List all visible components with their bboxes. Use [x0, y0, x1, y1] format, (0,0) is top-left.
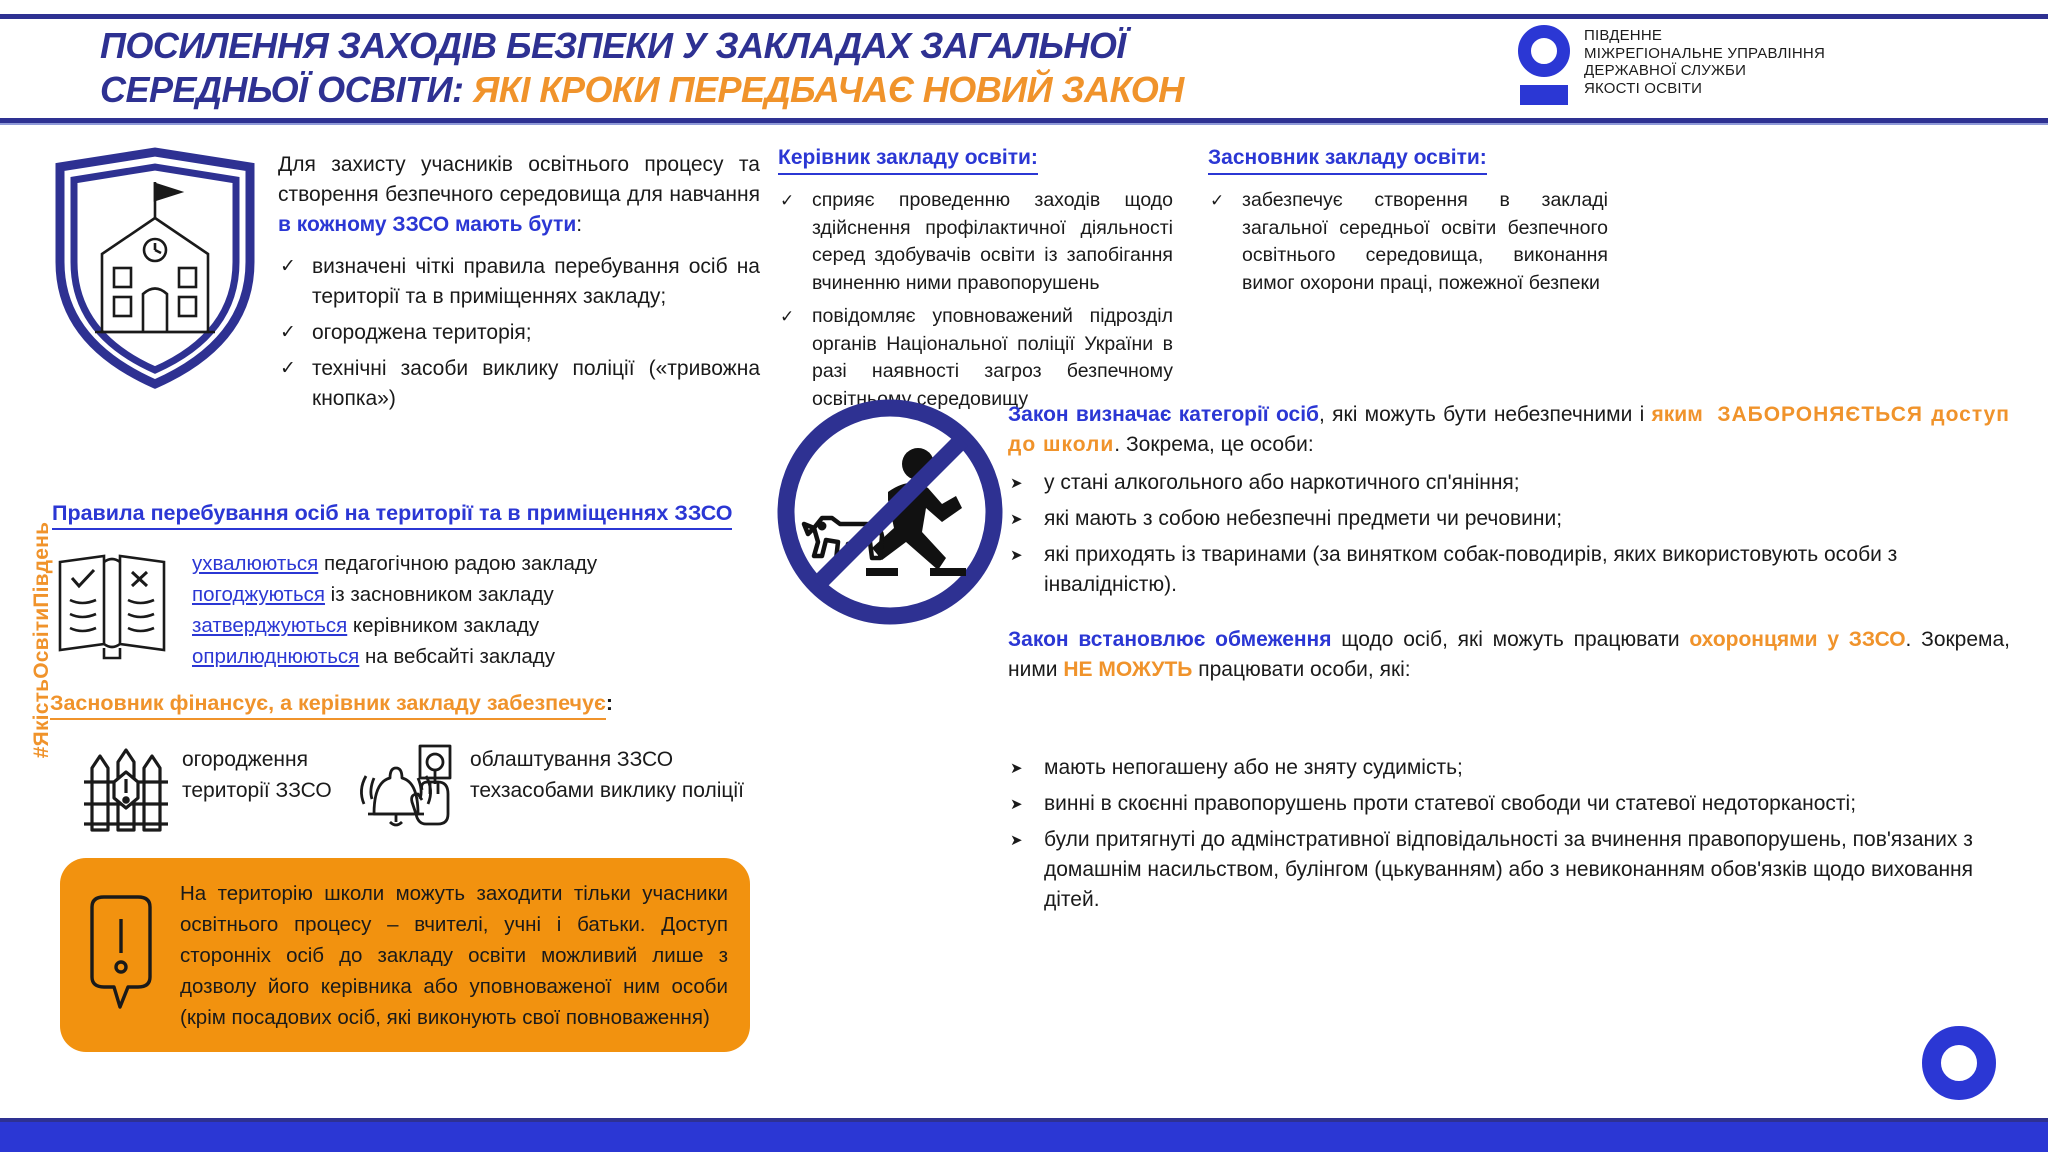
header-divider-light [0, 123, 2048, 125]
finance-icons-row: огородження території ЗЗСО [52, 730, 752, 840]
founder-heading: Засновник закладу освіти: [1208, 145, 1487, 175]
corner-ring-logo-icon [1922, 1026, 1996, 1100]
rules-verb-list: ухвалюються педагогічною радою закладу п… [192, 548, 712, 672]
finance-heading-wrap: Засновник фінансує, а керівник закладу з… [50, 690, 613, 720]
ban-block: Закон визначає категорії осіб, які можут… [1008, 400, 2010, 606]
rules-heading: Правила перебування осіб на території та… [52, 500, 732, 530]
principal-checklist: сприяє проведенню заходів щодо здійсненн… [778, 187, 1173, 413]
logo-line-1: ПІВДЕННЕ [1584, 27, 1825, 45]
title-line-2-blue: СЕРЕДНЬОЇ ОСВІТИ: [100, 69, 473, 110]
orange-callout-box: На територію школи можуть заходити тільк… [60, 858, 750, 1052]
bottom-bar [0, 1122, 2048, 1152]
ban-lead-tail: . Зокрема, це особи: [1114, 433, 1313, 456]
founder-checklist: забезпечує створення в закладі загальної… [1208, 187, 1608, 297]
list-item: у стані алкогольного або наркотичного сп… [1008, 468, 2010, 498]
infographic-page: ПОСИЛЕННЯ ЗАХОДІВ БЕЗПЕКИ У ЗАКЛАДАХ ЗАГ… [0, 0, 2048, 1152]
ban-lead-orange-1: яким [1652, 403, 1703, 426]
ban-lead: Закон визначає категорії осіб, які можут… [1008, 400, 2010, 460]
rules-heading-wrap: Правила перебування осіб на території та… [52, 500, 732, 530]
principal-column: Керівник закладу освіти: сприяє проведен… [778, 145, 1173, 419]
alarm-bell-button-icon [352, 738, 458, 834]
rules-rest: керівником закладу [347, 614, 539, 637]
title-line-2-orange: ЯКІ КРОКИ ПЕРЕДБАЧАЄ НОВИЙ ЗАКОН [473, 69, 1184, 110]
callout-text: На територію школи можуть заходити тільк… [180, 878, 728, 1033]
rules-row: оприлюднюються на вебсайті закладу [192, 641, 712, 672]
rules-row: погоджуються із засновником закладу [192, 579, 712, 610]
rules-rest: педагогічною радою закладу [318, 552, 597, 575]
ban-lead-mid: , які можуть бути небезпечними і [1319, 403, 1652, 426]
finance-heading-colon: : [606, 691, 613, 715]
list-item: які мають з собою небезпечні предмети чи… [1008, 504, 2010, 534]
sidebar: #ЯкістьОсвітиПівдень [0, 128, 42, 1110]
rules-row: ухвалюються педагогічною радою закладу [192, 548, 712, 579]
list-item: огороджена територія; [278, 318, 760, 348]
guards-lead-orange-1: охоронцями у ЗЗСО [1689, 628, 1905, 651]
rules-verb: погоджуються [192, 583, 325, 606]
rules-rest: на вебсайті закладу [359, 645, 555, 668]
rules-verb: оприлюднюються [192, 645, 359, 668]
rules-rest: із засновником закладу [325, 583, 554, 606]
fence-label-line-2: території ЗЗСО [182, 775, 332, 806]
logo-line-3: ДЕРЖАВНОЇ СЛУЖБИ [1584, 62, 1825, 80]
guards-lead-orange-2: НЕ МОЖУТЬ [1063, 658, 1192, 681]
intro-paragraph: Для захисту учасників освітнього процесу… [278, 150, 760, 240]
guards-lead-blue: Закон встановлює обмеження [1008, 628, 1332, 651]
founder-column: Засновник закладу освіти: забезпечує ств… [1208, 145, 1608, 303]
list-item: були притягнуті до адмінстративної відпо… [1008, 825, 2010, 915]
list-item: мають непогашену або не зняту судимість; [1008, 753, 2010, 783]
title-line-1: ПОСИЛЕННЯ ЗАХОДІВ БЕЗПЕКИ У ЗАКЛАДАХ ЗАГ… [100, 25, 1126, 66]
guards-lead: Закон встановлює обмеження щодо осіб, як… [1008, 625, 2010, 685]
list-item: забезпечує створення в закладі загальної… [1208, 187, 1608, 297]
list-item: технічні засоби виклику поліції («тривож… [278, 354, 760, 414]
left-column: Для захисту учасників освітнього процесу… [50, 150, 760, 420]
intro-text-before: Для захисту учасників освітнього процесу… [278, 153, 760, 206]
guards-list: мають непогашену або не зняту судимість;… [1008, 753, 2010, 915]
bell-label-line-1: облаштування ЗЗСО [470, 744, 744, 775]
guards-lead-block: Закон встановлює обмеження щодо осіб, як… [1008, 625, 2010, 685]
page-title: ПОСИЛЕННЯ ЗАХОДІВ БЕЗПЕКИ У ЗАКЛАДАХ ЗАГ… [100, 24, 1480, 112]
organization-logo: ПІВДЕННЕ МІЖРЕГІОНАЛЬНЕ УПРАВЛІННЯ ДЕРЖА… [1518, 25, 1825, 105]
open-book-rules-icon [52, 548, 172, 666]
list-item: сприяє проведенню заходів щодо здійсненн… [778, 187, 1173, 297]
intro-text-after: : [576, 213, 582, 236]
exclamation-speech-icon [78, 891, 164, 1019]
rules-verb: ухвалюються [192, 552, 318, 575]
list-item: визначені чіткі правила перебування осіб… [278, 252, 760, 312]
bell-label: облаштування ЗЗСО техзасобами виклику по… [470, 744, 744, 806]
rules-row: затверджуються керівником закладу [192, 610, 712, 641]
fence-label: огородження території ЗЗСО [182, 744, 332, 806]
ban-lead-blue: Закон визначає категорії осіб [1008, 403, 1319, 426]
guards-lead-tail: працювати особи, які: [1192, 658, 1410, 681]
hashtag-label: #ЯкістьОсвітиПівдень [30, 510, 54, 770]
rules-verb: затверджуються [192, 614, 347, 637]
intro-checklist: визначені чіткі правила перебування осіб… [278, 252, 760, 414]
logo-line-2: МІЖРЕГІОНАЛЬНЕ УПРАВЛІННЯ [1584, 45, 1825, 63]
logo-text-block: ПІВДЕННЕ МІЖРЕГІОНАЛЬНЕ УПРАВЛІННЯ ДЕРЖА… [1584, 25, 1825, 97]
finance-heading: Засновник фінансує, а керівник закладу з… [50, 690, 606, 720]
guards-lead-mid-1: щодо осіб, які можуть працювати [1332, 628, 1690, 651]
no-entry-person-dog-icon [770, 392, 1010, 632]
logo-line-4: ЯКОСТІ ОСВІТИ [1584, 80, 1825, 98]
bell-label-line-2: техзасобами виклику поліції [470, 775, 744, 806]
principal-heading: Керівник закладу освіти: [778, 145, 1038, 175]
fence-label-line-1: огородження [182, 744, 332, 775]
guards-list-block: мають непогашену або не зняту судимість;… [1008, 745, 2010, 921]
list-item: які приходять із тваринами (за винятком … [1008, 540, 2010, 600]
intro-highlight: в кожному ЗЗСО мають бути [278, 213, 576, 236]
list-item: винні в скоєнні правопорушень проти стат… [1008, 789, 2010, 819]
fence-warning-icon [80, 738, 172, 834]
ban-list: у стані алкогольного або наркотичного сп… [1008, 468, 2010, 600]
ring-logo-icon [1518, 25, 1570, 105]
